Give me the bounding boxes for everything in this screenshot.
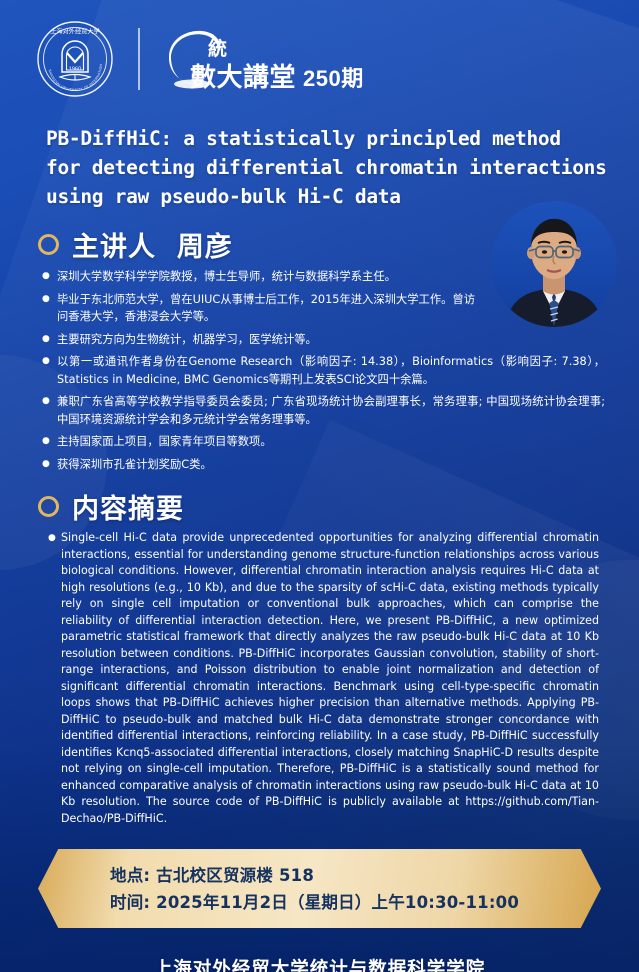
lecture-title-line-1: PB-DiffHiC: a statistically principled m… xyxy=(46,124,613,153)
header-divider xyxy=(138,28,140,90)
bio-item: 主持国家面上项目，国家青年项目等数项。 xyxy=(42,433,605,451)
brand-title-text: 數大講堂 xyxy=(190,63,296,93)
bio-item: 获得深圳市孔雀计划奖励C类。 xyxy=(42,456,605,474)
speaker-section-title: 主讲人 周彦 xyxy=(72,225,233,264)
bio-item: 以第一或通讯作者身份在Genome Research（影响因子: 14.38），… xyxy=(42,353,605,388)
brand-title: 數大講堂250期 xyxy=(190,57,364,94)
poster-root: 1960 上海对外经贸大学 SHANGHAI UNIVERSITY OF INT… xyxy=(0,0,639,972)
abstract-section: 内容摘要 Single-cell Hi-C data provide unpre… xyxy=(0,487,639,827)
gold-ring-bullet-icon xyxy=(38,496,59,517)
svg-text:1960: 1960 xyxy=(69,67,81,73)
abstract-section-title: 内容摘要 xyxy=(72,487,184,526)
gold-ring-bullet-icon xyxy=(38,234,59,255)
speaker-name: 周彦 xyxy=(177,232,233,263)
poster-footer: 上海对外经贸大学统计与数据科学学院 上海市统计学会 xyxy=(0,954,639,972)
bio-item: 深圳大学数学科学学院教授，博士生导师，统计与数据科学系主任。 xyxy=(42,268,605,286)
bio-item: 毕业于东北师范大学，曾在UIUC从事博士后工作，2015年进入深圳大学工作。曾访… xyxy=(42,291,605,326)
poster-header: 1960 上海对外经贸大学 SHANGHAI UNIVERSITY OF INT… xyxy=(0,0,639,118)
bio-item: 兼职广东省高等学校教学指导委员会委员; 广东省现场统计协会副理事长，常务理事; … xyxy=(42,393,605,428)
event-time: 时间: 2025年11月2日（星期日）上午10:30-11:00 xyxy=(110,889,601,916)
event-location: 地点: 古北校区贸源楼 518 xyxy=(110,862,601,889)
speaker-bio-list: 深圳大学数学科学学院教授，博士生导师，统计与数据科学系主任。 毕业于东北师范大学… xyxy=(42,268,605,473)
abstract-body: Single-cell Hi-C data provide unpreceden… xyxy=(48,530,599,827)
university-seal-icon: 1960 上海对外经贸大学 SHANGHAI UNIVERSITY OF INT… xyxy=(36,20,114,98)
lecture-title-line-2: for detecting differential chromatin int… xyxy=(46,153,613,182)
footer-organizer-primary: 上海对外经贸大学统计与数据科学学院 xyxy=(0,954,639,972)
bio-item: 主要研究方向为生物统计，机器学习，医学统计等。 xyxy=(42,331,605,349)
lecture-title: PB-DiffHiC: a statistically principled m… xyxy=(46,124,613,211)
event-details-banner: 地点: 古北校区贸源楼 518 时间: 2025年11月2日（星期日）上午10:… xyxy=(38,849,601,928)
brand-issue-number: 250期 xyxy=(303,66,364,91)
speaker-section-label: 主讲人 xyxy=(72,232,156,263)
lecture-series-brand: 統 數大講堂250期 xyxy=(162,20,412,98)
abstract-section-heading: 内容摘要 xyxy=(38,487,639,526)
svg-text:上海对外经贸大学: 上海对外经贸大学 xyxy=(50,28,100,36)
speaker-section: 主讲人 周彦 xyxy=(0,225,639,473)
